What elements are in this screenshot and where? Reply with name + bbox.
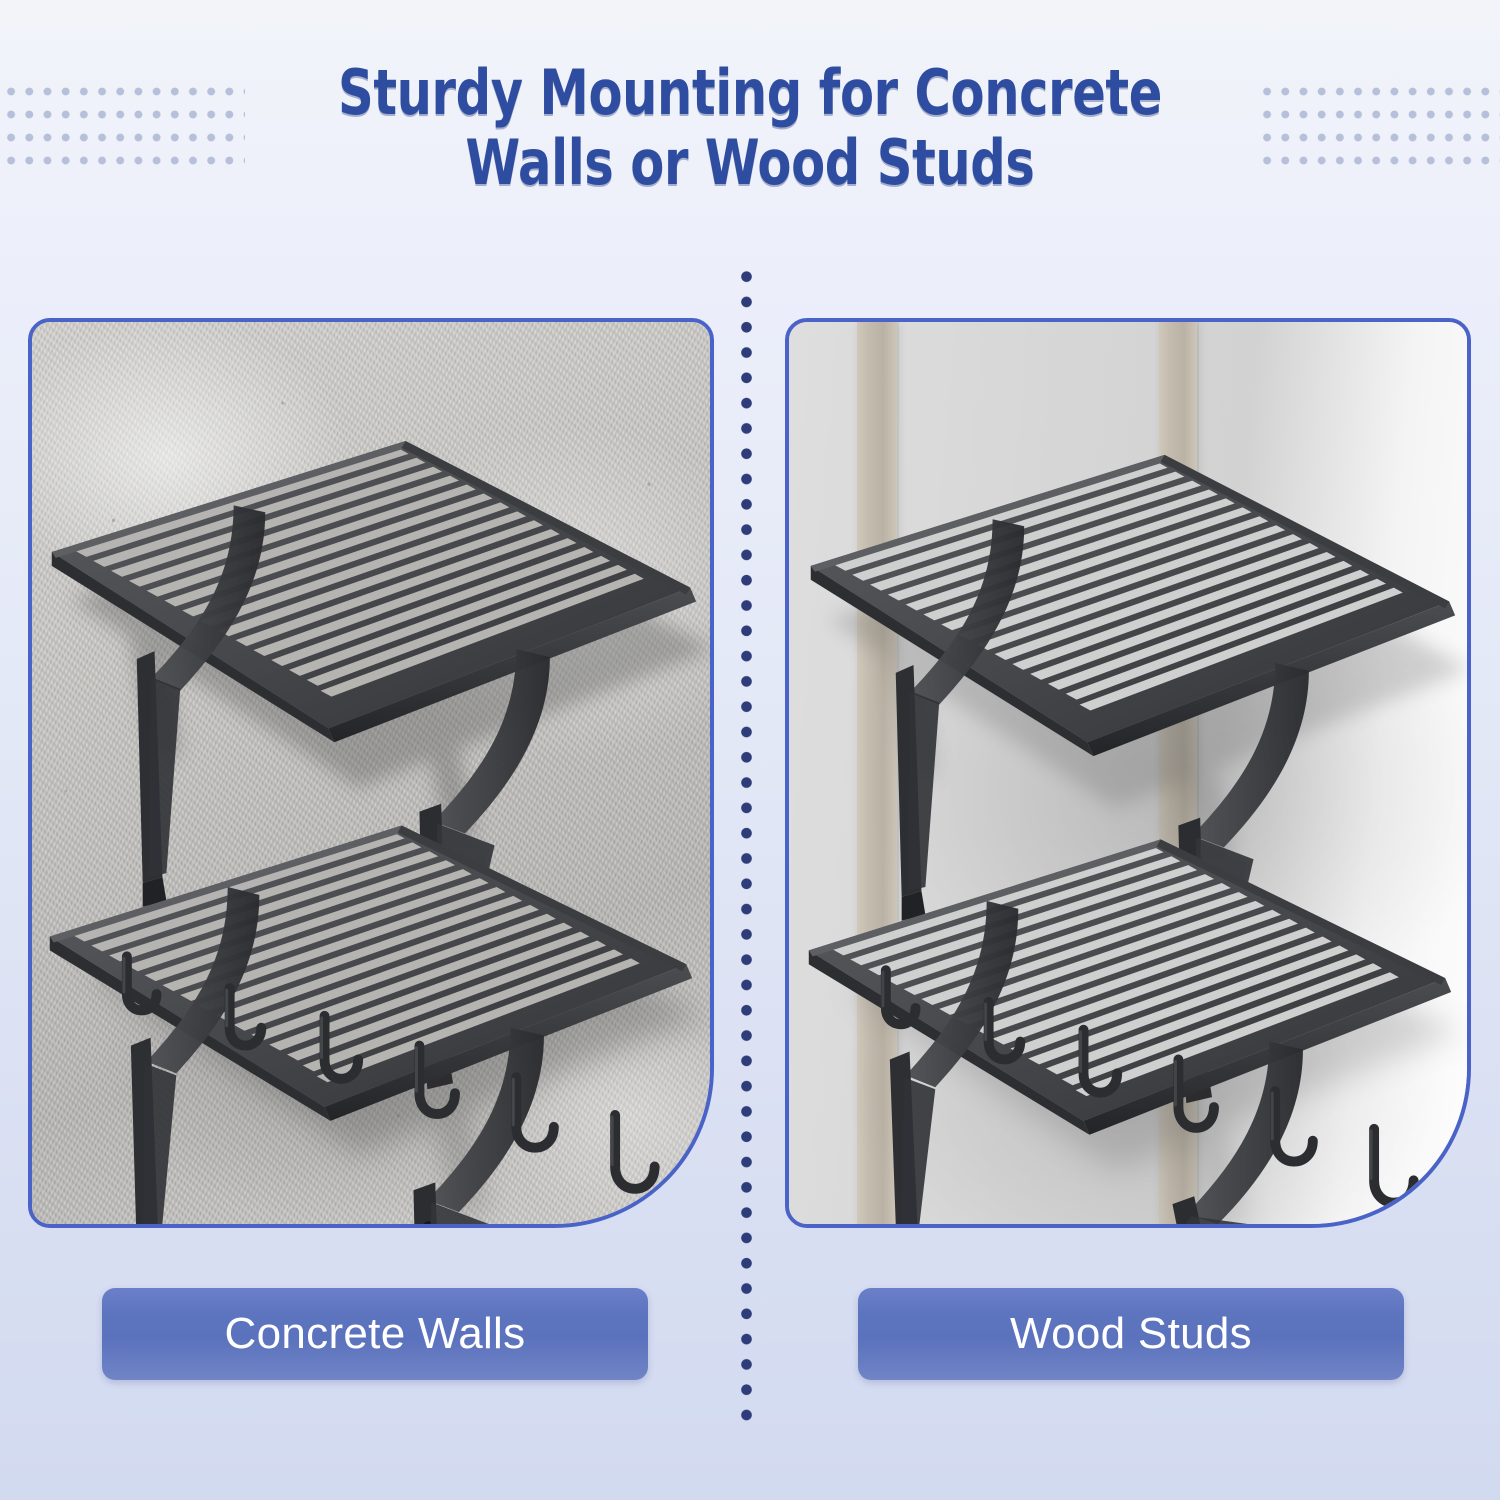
caption-concrete-walls-label: Concrete Walls [225, 1309, 526, 1359]
page-title: Sturdy Mounting for Concrete Walls or Wo… [150, 58, 1350, 198]
caption-concrete-walls[interactable]: Concrete Walls [102, 1288, 648, 1380]
page-title-line-1: Sturdy Mounting for Concrete [150, 58, 1350, 128]
wood-stud-shelves-illustration [789, 322, 1467, 1224]
caption-wood-studs-label: Wood Studs [1010, 1309, 1252, 1359]
wood-studs-photo-panel [785, 318, 1471, 1228]
page-title-line-2: Walls or Wood Studs [150, 128, 1350, 198]
marketing-banner: Sturdy Mounting for Concrete Walls or Wo… [0, 0, 1500, 1500]
vertical-dotted-divider [741, 264, 752, 1424]
caption-wood-studs[interactable]: Wood Studs [858, 1288, 1404, 1380]
concrete-wall-photo-panel [28, 318, 714, 1228]
concrete-shelves-illustration [32, 322, 710, 1224]
